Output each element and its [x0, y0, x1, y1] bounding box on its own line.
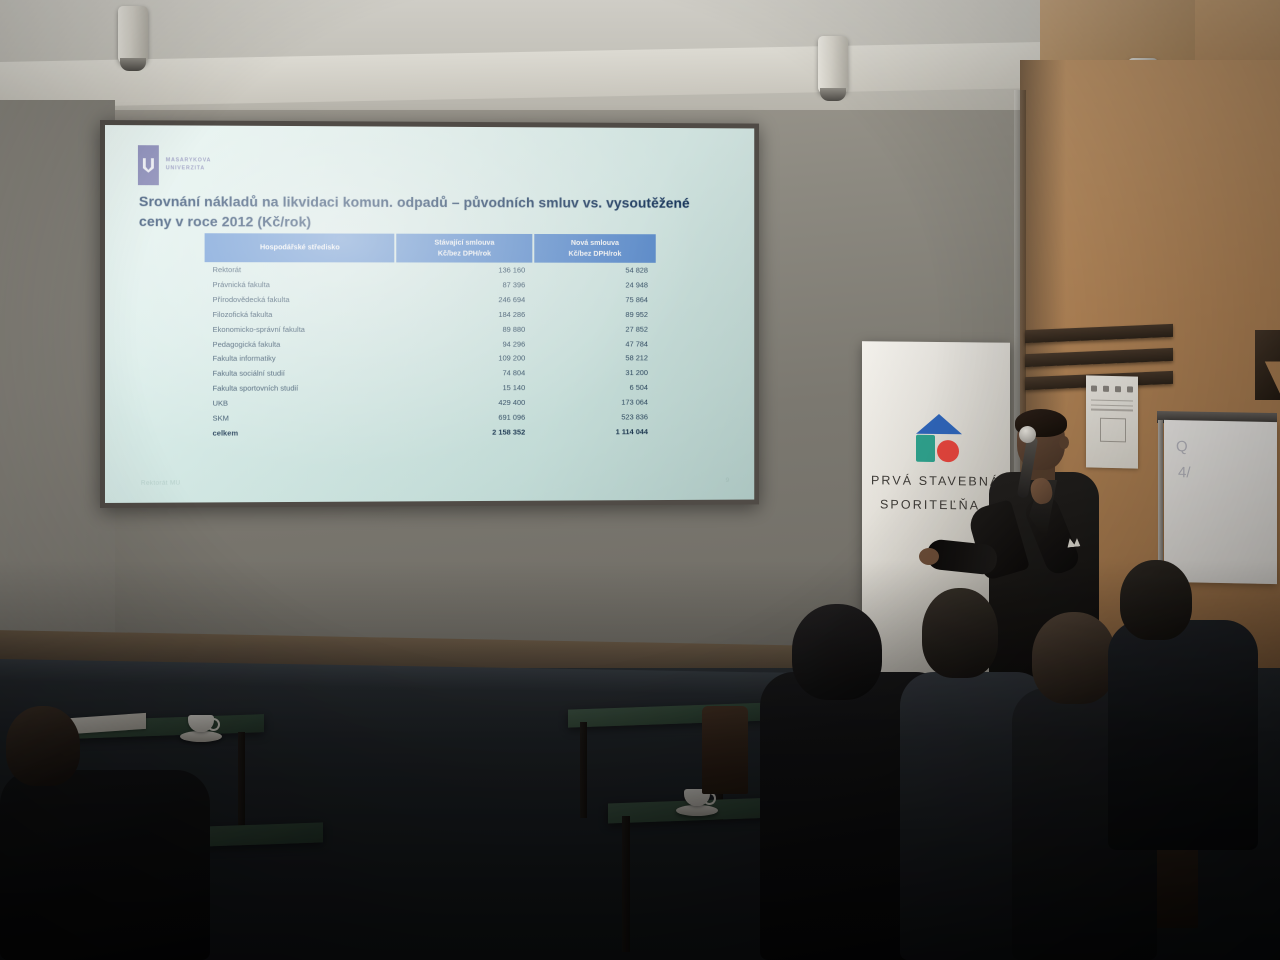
table-row: Právnická fakulta87 39624 948 [205, 277, 656, 292]
cell-new-contract-cost: 47 784 [533, 336, 656, 351]
table-row: Ekonomicko-správní fakulta89 88027 852 [205, 322, 656, 337]
poster-icon-row [1091, 384, 1133, 392]
table-leg [580, 722, 587, 818]
ceiling-spotlight-2 [818, 36, 848, 94]
table-row-total: celkem2 158 3521 114 044 [205, 424, 656, 440]
cell-unit-name: Rektorát [205, 262, 396, 277]
cell-unit-name: Přírodovědecká fakulta [205, 292, 396, 307]
cell-unit-name: Ekonomicko-správní fakulta [205, 322, 396, 337]
logo-roof-triangle [916, 414, 962, 434]
poster-icon [1091, 385, 1097, 391]
spotlight-glint [824, 92, 832, 98]
poster-icon [1115, 386, 1121, 392]
flipchart-paper: Q 4/ [1164, 420, 1277, 584]
poster-line [1091, 399, 1133, 401]
cell-old-contract-cost: 109 200 [396, 351, 533, 366]
table-head: Hospodářské středisko Stávající smlouva … [205, 233, 656, 263]
logo-line-2: UNIVERZITA [166, 165, 211, 173]
cell-unit-name: Fakulta informatiky [205, 351, 396, 366]
spotlight-glint [134, 62, 141, 68]
audience-head [1120, 560, 1192, 640]
masaryk-university-logo: MASARYKOVA UNIVERZITA [138, 145, 211, 185]
cell-new-contract-cost: 31 200 [533, 366, 656, 381]
chair-back [702, 706, 748, 794]
slide-title: Srovnání nákladů na likvidaci komun. odp… [139, 193, 727, 233]
cell-new-contract-cost: 173 064 [533, 395, 656, 410]
audience-head [792, 604, 882, 700]
cell-unit-name: UKB [205, 395, 396, 410]
cell-old-contract-cost: 94 296 [396, 336, 533, 351]
column-header-unit: Hospodářské středisko [205, 233, 396, 262]
spotlight-glint [834, 92, 841, 98]
cell-old-contract-cost: 691 096 [396, 410, 533, 425]
cell-new-contract-cost: 1 114 044 [533, 424, 656, 439]
old-contract-line-2: Kč/bez DPH/rok [438, 248, 491, 257]
cell-new-contract-cost: 27 852 [533, 322, 656, 337]
table-row: UKB429 400173 064 [205, 395, 656, 411]
flipchart-handwriting: 4/ [1178, 464, 1191, 481]
shield-glyph [143, 158, 154, 173]
table-row: Fakulta informatiky109 20058 212 [205, 351, 656, 366]
flipchart-handwriting: Q [1176, 438, 1188, 455]
presenter-hand-left [919, 548, 939, 565]
university-logo-text: MASARYKOVA UNIVERZITA [166, 158, 211, 173]
poster-icon [1103, 385, 1109, 391]
cell-new-contract-cost: 24 948 [533, 277, 656, 292]
cell-unit-name: Filozofická fakulta [205, 307, 396, 322]
cell-old-contract-cost: 2 158 352 [396, 425, 533, 440]
new-contract-line-1: Nová smlouva [571, 238, 619, 247]
column-header-new-contract: Nová smlouva Kč/bez DPH/rok [533, 234, 656, 263]
cell-old-contract-cost: 74 804 [396, 366, 533, 381]
table-row: Filozofická fakulta184 28689 952 [205, 307, 656, 322]
table-row: SKM691 096523 836 [205, 410, 656, 426]
cost-comparison-table: Hospodářské středisko Stávající smlouva … [205, 233, 656, 440]
table-body: Rektorát136 16054 828Právnická fakulta87… [205, 262, 656, 440]
column-header-unit-label: Hospodářské středisko [260, 243, 340, 252]
cell-unit-name: celkem [205, 425, 396, 440]
cell-unit-name: SKM [205, 410, 396, 425]
saucer [180, 731, 222, 742]
projection-screen: MASARYKOVA UNIVERZITA Srovnání nákladů n… [100, 120, 759, 508]
cell-unit-name: Fakulta sportovních studií [205, 381, 396, 396]
cell-old-contract-cost: 429 400 [396, 395, 533, 410]
logo-red-circle [937, 440, 959, 462]
audience-head [6, 706, 80, 786]
university-shield-icon [138, 145, 159, 185]
slide-title-line-1: Srovnání nákladů na likvidaci komun. odp… [139, 194, 690, 212]
spotlight-glint [124, 62, 132, 68]
table-row: Přírodovědecká fakulta246 69475 864 [205, 292, 656, 307]
slide-footer: Rektorát MU [141, 480, 181, 487]
table-row: Fakulta sportovních studií15 1406 504 [205, 380, 656, 396]
projected-slide-surface: MASARYKOVA UNIVERZITA Srovnání nákladů n… [105, 125, 754, 503]
presenter-ear [1059, 436, 1069, 449]
new-contract-line-2: Kč/bez DPH/rok [569, 248, 622, 257]
table-header-row: Hospodářské středisko Stávající smlouva … [205, 233, 656, 263]
sponsor-logo-icon [906, 414, 972, 463]
audience-head [922, 588, 998, 678]
table-row: Fakulta sociální studií74 80431 200 [205, 366, 656, 382]
cell-new-contract-cost: 6 504 [533, 380, 656, 395]
cell-new-contract-cost: 523 836 [533, 410, 656, 425]
cell-unit-name: Fakulta sociální studií [205, 366, 396, 381]
logo-line-1: MASARYKOVA [166, 158, 211, 166]
poster-line [1091, 409, 1133, 411]
ceiling-spotlight-1 [118, 6, 148, 64]
poster-icon [1127, 386, 1133, 392]
conference-room-photo: MASARYKOVA UNIVERZITA Srovnání nákladů n… [0, 0, 1280, 960]
table-leg [238, 732, 245, 836]
table-row: Pedagogická fakulta94 29647 784 [205, 336, 656, 351]
table-leg [622, 816, 630, 952]
coffee-cup [188, 715, 214, 732]
cell-old-contract-cost: 136 160 [396, 263, 533, 278]
logo-green-block [916, 435, 935, 462]
poster-line [1091, 404, 1133, 406]
cell-unit-name: Právnická fakulta [205, 277, 396, 292]
saucer [676, 805, 718, 816]
cell-old-contract-cost: 87 396 [396, 277, 533, 292]
cell-unit-name: Pedagogická fakulta [205, 336, 396, 351]
cell-old-contract-cost: 246 694 [396, 292, 533, 307]
slide-title-line-2: ceny v roce 2012 (Kč/rok) [139, 214, 311, 230]
old-contract-line-1: Stávající smlouva [434, 238, 494, 247]
cell-new-contract-cost: 89 952 [533, 307, 656, 322]
slide-page-number: 9 [726, 477, 729, 484]
audience-member [1108, 620, 1258, 850]
column-header-old-contract: Stávající smlouva Kč/bez DPH/rok [396, 234, 533, 263]
cell-old-contract-cost: 89 880 [396, 322, 533, 337]
audience-member [0, 770, 210, 960]
table-row: Rektorát136 16054 828 [205, 262, 656, 277]
cell-new-contract-cost: 75 864 [533, 292, 656, 307]
audience-head [1032, 612, 1116, 704]
cell-old-contract-cost: 184 286 [396, 307, 533, 322]
presentation-slide: MASARYKOVA UNIVERZITA Srovnání nákladů n… [105, 125, 754, 503]
cell-new-contract-cost: 54 828 [533, 263, 656, 278]
cell-old-contract-cost: 15 140 [396, 380, 533, 395]
cell-new-contract-cost: 58 212 [533, 351, 656, 366]
banner-text-line-2: SPORITEĽŇA [880, 497, 980, 512]
